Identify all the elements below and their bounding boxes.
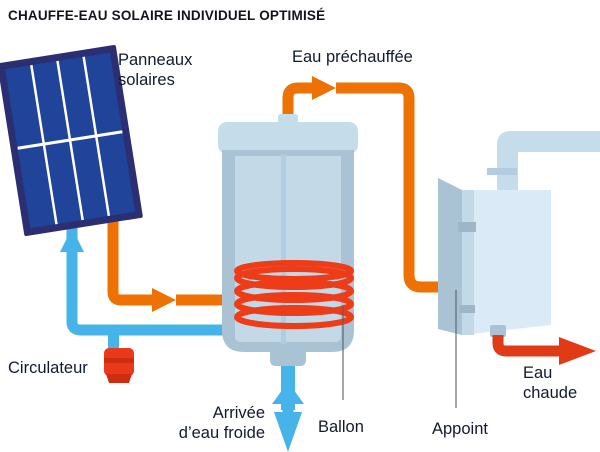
backup-boiler <box>438 178 551 337</box>
hot-water-label-line2: chaude <box>523 384 577 402</box>
flue-pipe <box>487 131 600 200</box>
preheated-water-label: Eau préchauffée <box>292 48 413 66</box>
cold-inlet-label-line2: d’eau froide <box>179 424 265 442</box>
solar-water-heater-diagram: CHAUFFE-EAU SOLAIRE INDIVIDUEL OPTIMISÉ <box>0 0 600 452</box>
boiler-label: Appoint <box>432 420 488 438</box>
storage-tank <box>218 114 358 366</box>
panels-label-line1: Panneaux <box>118 51 193 69</box>
circulator-label: Circulateur <box>8 359 88 377</box>
diagram-page: CHAUFFE-EAU SOLAIRE INDIVIDUEL OPTIMISÉ <box>0 0 600 452</box>
panels-label-line2: solaires <box>118 71 175 89</box>
hot-water-label-line1: Eau <box>523 364 552 382</box>
cold-inlet-label-line1: Arrivée <box>213 404 265 422</box>
page-title: CHAUFFE-EAU SOLAIRE INDIVIDUEL OPTIMISÉ <box>8 8 325 23</box>
tank-label: Ballon <box>318 418 364 436</box>
hot-water-pipe <box>498 335 596 365</box>
